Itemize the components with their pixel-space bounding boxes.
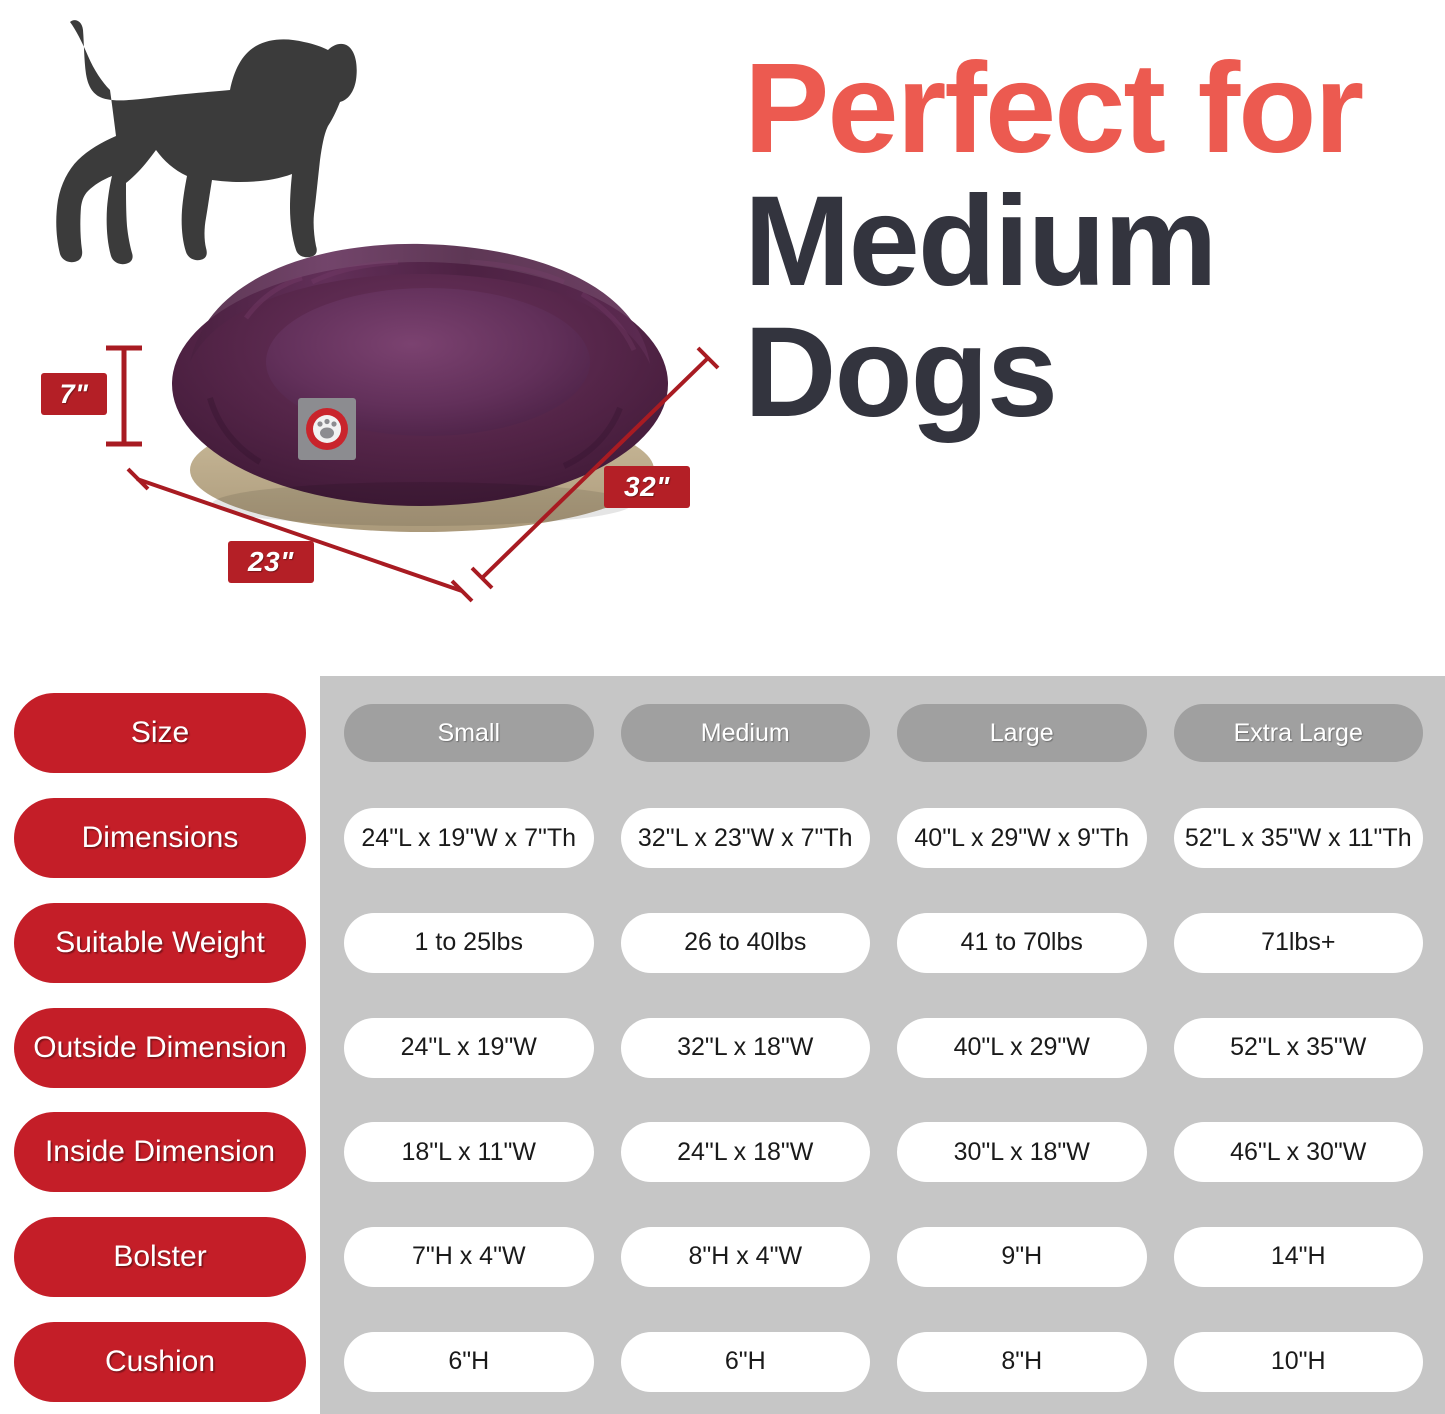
brand-tag-icon bbox=[298, 398, 356, 460]
value-pill: 6"H bbox=[344, 1332, 594, 1392]
row-values-cell: 7"H x 4"W8"H x 4"W9"H14"H bbox=[320, 1227, 1445, 1287]
column-header-pill: Small bbox=[344, 704, 594, 762]
table-row: Dimensions24"L x 19"W x 7"Th32"L x 23"W … bbox=[0, 786, 1445, 891]
row-values-cell: 24"L x 19"W x 7"Th32"L x 23"W x 7"Th40"L… bbox=[320, 808, 1445, 868]
value-pill: 24"L x 18"W bbox=[621, 1122, 871, 1182]
value-pill: 14"H bbox=[1174, 1227, 1424, 1287]
row-values-cell: 1 to 25lbs26 to 40lbs41 to 70lbs71lbs+ bbox=[320, 913, 1445, 973]
row-label-pill: Outside Dimension bbox=[14, 1008, 306, 1088]
row-label-cell: Cushion bbox=[0, 1322, 320, 1402]
row-label-cell: Suitable Weight bbox=[0, 903, 320, 983]
hero-section: 7" 23" 32" Perfect for Medium Dogs bbox=[0, 0, 1445, 676]
value-pill: 40"L x 29"W x 9"Th bbox=[897, 808, 1147, 868]
row-label-cell: Bolster bbox=[0, 1217, 320, 1297]
dimension-label-width: 23" bbox=[228, 541, 314, 583]
headline-line-2: Medium bbox=[744, 181, 1434, 304]
value-pill: 18"L x 11"W bbox=[344, 1122, 594, 1182]
value-pill: 8"H bbox=[897, 1332, 1147, 1392]
row-values-cell: 24"L x 19"W32"L x 18"W40"L x 29"W52"L x … bbox=[320, 1018, 1445, 1078]
column-header-pill: Large bbox=[897, 704, 1147, 762]
value-pill: 30"L x 18"W bbox=[897, 1122, 1147, 1182]
value-pill: 9"H bbox=[897, 1227, 1147, 1287]
dimension-label-height: 7" bbox=[41, 373, 107, 415]
table-row: Cushion6"H6"H8"H10"H bbox=[0, 1309, 1445, 1414]
value-pill: 40"L x 29"W bbox=[897, 1018, 1147, 1078]
value-pill: 32"L x 18"W bbox=[621, 1018, 871, 1078]
dimension-label-length: 32" bbox=[604, 466, 690, 508]
table-row: Inside Dimension18"L x 11"W24"L x 18"W30… bbox=[0, 1100, 1445, 1205]
row-label-cell: Outside Dimension bbox=[0, 1008, 320, 1088]
value-pill: 52"L x 35"W x 11"Th bbox=[1174, 808, 1424, 868]
value-pill: 6"H bbox=[621, 1332, 871, 1392]
value-pill: 46"L x 30"W bbox=[1174, 1122, 1424, 1182]
row-label-pill: Bolster bbox=[14, 1217, 306, 1297]
row-label-cell: Inside Dimension bbox=[0, 1112, 320, 1192]
row-label-pill: Size bbox=[14, 693, 306, 773]
value-pill: 41 to 70lbs bbox=[897, 913, 1147, 973]
row-values-cell: 6"H6"H8"H10"H bbox=[320, 1332, 1445, 1392]
value-pill: 24"L x 19"W x 7"Th bbox=[344, 808, 594, 868]
headline: Perfect for Medium Dogs bbox=[744, 48, 1434, 435]
value-pill: 32"L x 23"W x 7"Th bbox=[621, 808, 871, 868]
table-row: SizeSmallMediumLargeExtra Large bbox=[0, 681, 1445, 786]
headline-line-1: Perfect for bbox=[744, 48, 1434, 171]
row-label-pill: Cushion bbox=[14, 1322, 306, 1402]
table-row: Bolster7"H x 4"W8"H x 4"W9"H14"H bbox=[0, 1205, 1445, 1310]
value-pill: 71lbs+ bbox=[1174, 913, 1424, 973]
value-pill: 52"L x 35"W bbox=[1174, 1018, 1424, 1078]
table-row: Outside Dimension24"L x 19"W32"L x 18"W4… bbox=[0, 995, 1445, 1100]
value-pill: 8"H x 4"W bbox=[621, 1227, 871, 1287]
row-label-cell: Size bbox=[0, 693, 320, 773]
column-header-pill: Medium bbox=[621, 704, 871, 762]
row-label-pill: Suitable Weight bbox=[14, 903, 306, 983]
value-pill: 24"L x 19"W bbox=[344, 1018, 594, 1078]
table-row: Suitable Weight1 to 25lbs26 to 40lbs41 t… bbox=[0, 890, 1445, 995]
row-values-cell: 18"L x 11"W24"L x 18"W30"L x 18"W46"L x … bbox=[320, 1122, 1445, 1182]
value-pill: 1 to 25lbs bbox=[344, 913, 594, 973]
specification-table: SizeSmallMediumLargeExtra LargeDimension… bbox=[0, 676, 1445, 1414]
value-pill: 26 to 40lbs bbox=[621, 913, 871, 973]
row-label-pill: Inside Dimension bbox=[14, 1112, 306, 1192]
value-pill: 7"H x 4"W bbox=[344, 1227, 594, 1287]
column-header-pill: Extra Large bbox=[1174, 704, 1424, 762]
table-rows-container: SizeSmallMediumLargeExtra LargeDimension… bbox=[0, 676, 1445, 1414]
row-values-cell: SmallMediumLargeExtra Large bbox=[320, 704, 1445, 762]
row-label-cell: Dimensions bbox=[0, 798, 320, 878]
row-label-pill: Dimensions bbox=[14, 798, 306, 878]
headline-line-3: Dogs bbox=[744, 312, 1434, 435]
value-pill: 10"H bbox=[1174, 1332, 1424, 1392]
